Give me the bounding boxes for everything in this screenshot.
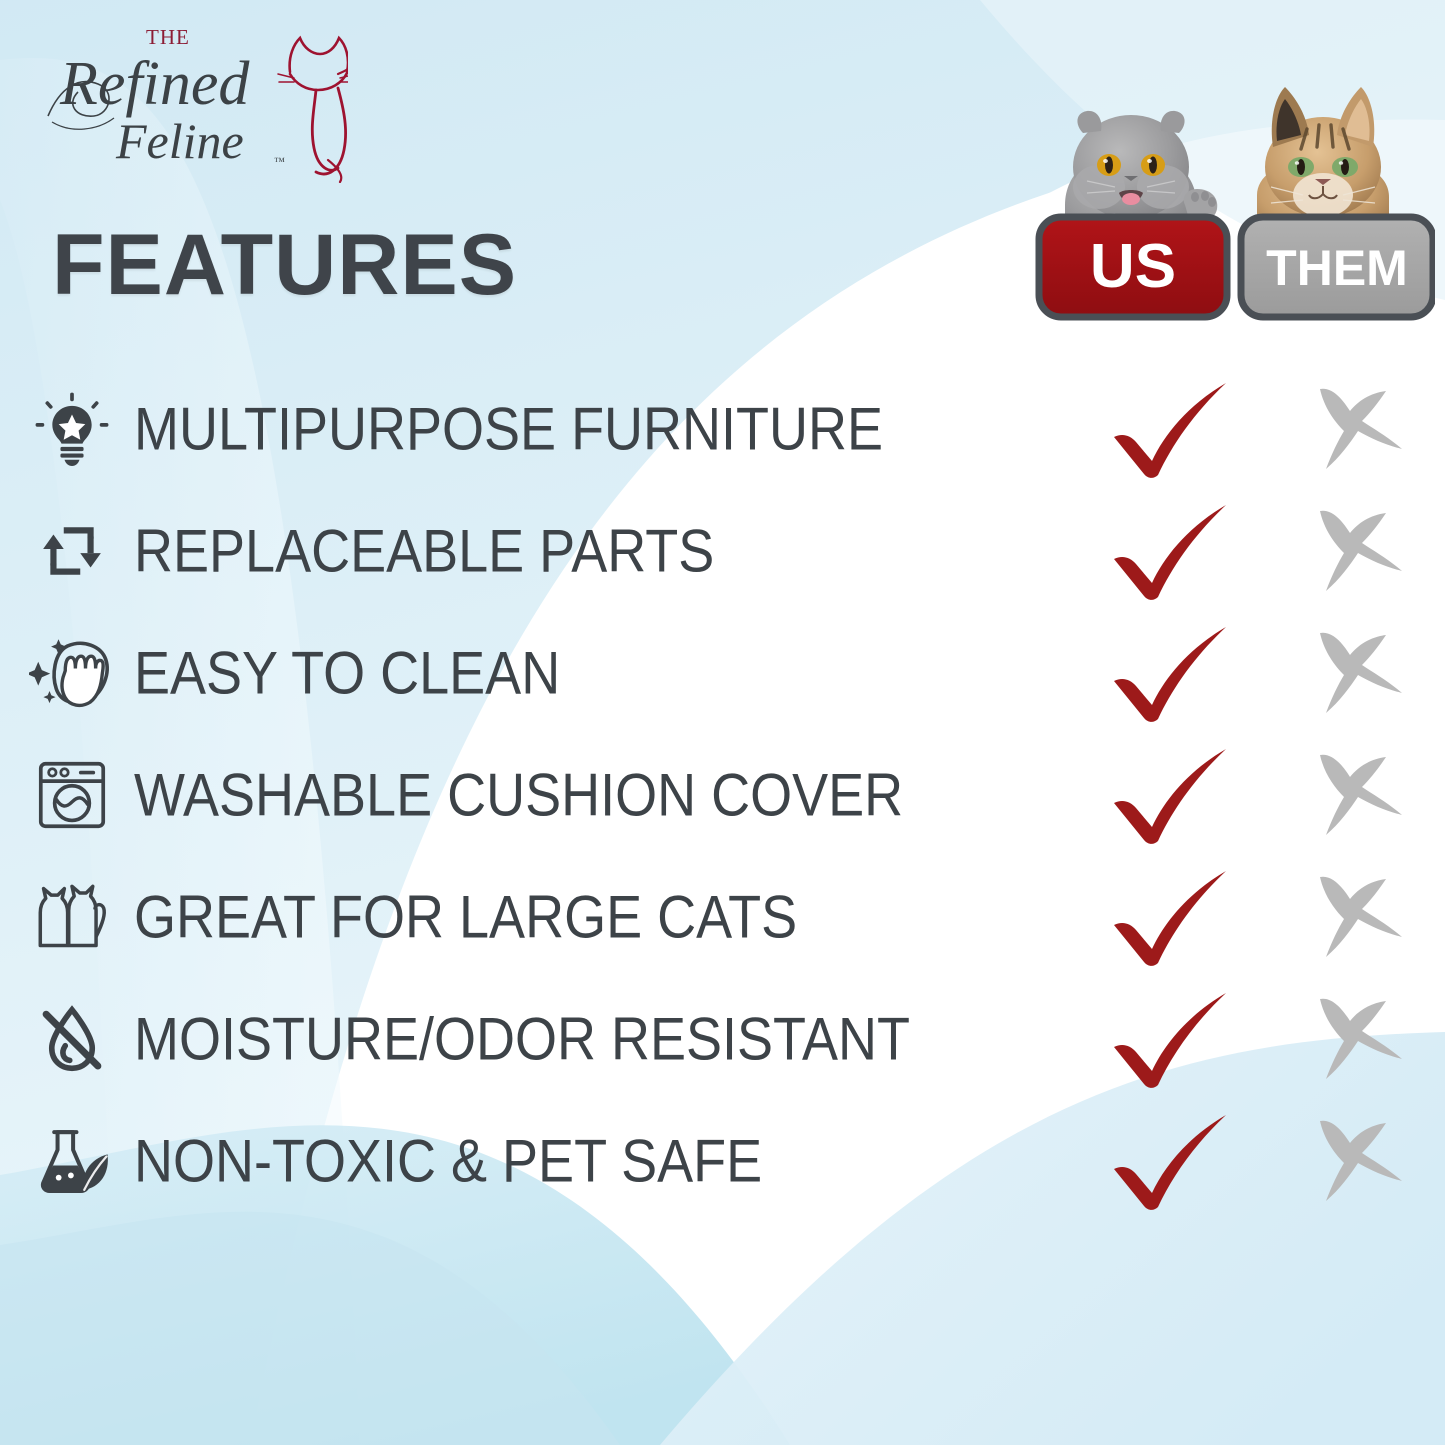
logo-the-text: THE bbox=[146, 25, 190, 49]
grey-x-icon bbox=[1300, 747, 1410, 843]
red-checkmark-icon bbox=[1108, 1111, 1236, 1211]
logo-trademark: ™ bbox=[274, 156, 285, 168]
list-item-label: WASHABLE CUSHION COVER bbox=[134, 761, 903, 830]
grey-x-icon bbox=[1300, 869, 1410, 965]
washing-machine-icon bbox=[26, 752, 118, 838]
list-item-label: NON-TOXIC & PET SAFE bbox=[134, 1127, 762, 1196]
list-item: REPLACEABLE PARTS bbox=[0, 490, 1445, 612]
list-item-label: MOISTURE/ODOR RESISTANT bbox=[134, 1005, 910, 1074]
page-title: FEATURES bbox=[52, 222, 517, 308]
grey-x-icon bbox=[1300, 991, 1410, 1087]
them-badge[interactable]: THEM bbox=[1241, 217, 1433, 317]
infographic-canvas: THE Refined Feline ™ bbox=[0, 0, 1445, 1445]
grey-x-icon bbox=[1300, 503, 1410, 599]
flask-leaf-icon bbox=[26, 1118, 118, 1204]
them-badge-label: THEM bbox=[1266, 240, 1408, 296]
red-checkmark-icon bbox=[1108, 501, 1236, 601]
two-cats-icon bbox=[26, 874, 118, 960]
refined-feline-logo: THE Refined Feline ™ bbox=[38, 18, 348, 183]
wiping-hand-sparkle-icon bbox=[26, 630, 118, 716]
grey-x-icon bbox=[1300, 381, 1410, 477]
list-item: WASHABLE CUSHION COVER bbox=[0, 734, 1445, 856]
grey-x-icon bbox=[1300, 625, 1410, 721]
list-item: NON-TOXIC & PET SAFE bbox=[0, 1100, 1445, 1222]
list-item-label: MULTIPURPOSE FURNITURE bbox=[134, 395, 883, 464]
lightbulb-star-icon bbox=[26, 386, 118, 472]
no-water-droplet-icon bbox=[26, 996, 118, 1082]
logo-feline-text: Feline bbox=[115, 113, 244, 169]
red-checkmark-icon bbox=[1108, 379, 1236, 479]
list-item-label: REPLACEABLE PARTS bbox=[134, 517, 714, 586]
list-item: MULTIPURPOSE FURNITURE bbox=[0, 368, 1445, 490]
us-badge[interactable]: US bbox=[1039, 217, 1227, 317]
list-item: EASY TO CLEAN bbox=[0, 612, 1445, 734]
red-checkmark-icon bbox=[1108, 745, 1236, 845]
red-checkmark-icon bbox=[1108, 867, 1236, 967]
red-checkmark-icon bbox=[1108, 623, 1236, 723]
red-checkmark-icon bbox=[1108, 989, 1236, 1089]
list-item-label: GREAT FOR LARGE CATS bbox=[134, 883, 797, 952]
logo-refined-text: Refined bbox=[59, 50, 250, 118]
recycle-arrows-icon bbox=[26, 508, 118, 594]
features-list: MULTIPURPOSE FURNITURE bbox=[0, 368, 1445, 1222]
list-item-label: EASY TO CLEAN bbox=[134, 639, 560, 708]
list-item: MOISTURE/ODOR RESISTANT bbox=[0, 978, 1445, 1100]
us-badge-label: US bbox=[1090, 232, 1176, 301]
list-item: GREAT FOR LARGE CATS bbox=[0, 856, 1445, 978]
us-them-comparison-header: US THEM bbox=[1035, 55, 1435, 335]
grey-x-icon bbox=[1300, 1113, 1410, 1209]
